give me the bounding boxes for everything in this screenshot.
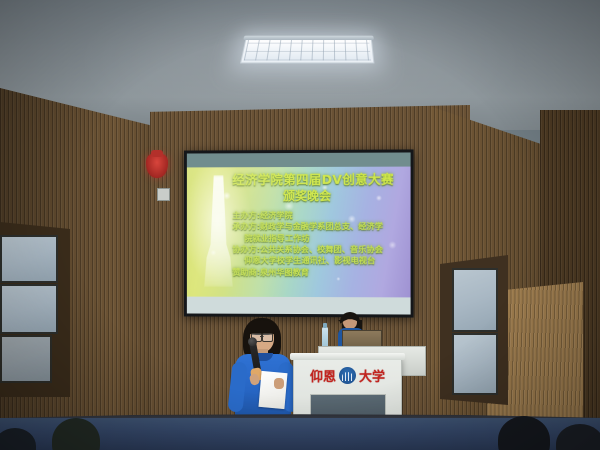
slide-line-coorganizer: 协办方:公共关系协会、校舞团、音乐协会: [232, 244, 404, 255]
red-wall-alarm-icon: [146, 154, 168, 178]
slide-line-sponsor: 赞助商:泉州华图教育: [232, 266, 404, 277]
slide-line-organizer: 主办方:经济学院: [232, 210, 404, 221]
script-paper: [258, 371, 287, 409]
speaker-hand-right: [274, 378, 284, 389]
slide-subtitle: 颁奖晚会: [232, 188, 404, 203]
window-pane-left-lower: [0, 335, 52, 383]
window-pane-right-lower: [452, 333, 498, 395]
wall-switch-plate: [157, 188, 170, 201]
slide-top-band: [187, 152, 411, 167]
window-pane-right-upper: [452, 268, 498, 332]
projection-screen-surface: 经济学院第四届DV创意大赛 颁奖晚会 主办方:经济学院 承办方:财政学与金融学系…: [187, 152, 411, 314]
slide-title: 经济学院第四届DV创意大赛: [232, 173, 404, 188]
light-diffuser-grid: [244, 40, 371, 60]
slide-bottom-band: [187, 297, 411, 315]
slide-text-block: 经济学院第四届DV创意大赛 颁奖晚会 主办方:经济学院 承办方:财政学与金融学系…: [232, 173, 404, 296]
slide-line-host-cont: 院就业指导工作坊: [232, 233, 404, 244]
water-bottle: [322, 327, 328, 348]
slide-line-host: 承办方:财政学与金融学系团总支、经济学: [232, 221, 404, 232]
recessed-fluorescent-light-icon: [240, 37, 374, 63]
podium-top-surface: [290, 353, 405, 360]
glasses-lens-right: [262, 333, 273, 342]
auditorium-photo: 经济学院第四届DV创意大赛 颁奖晚会 主办方:经济学院 承办方:财政学与金融学系…: [0, 0, 600, 450]
podium-word-right: 大学: [359, 366, 385, 385]
presentation-slide: 经济学院第四届DV创意大赛 颁奖晚会 主办方:经济学院 承办方:财政学与金融学系…: [187, 167, 411, 298]
podium-nameplate: 仰恩 大学: [294, 364, 401, 386]
podium-word-left: 仰恩: [310, 366, 336, 385]
university-crest-logo-icon: [339, 367, 356, 384]
slide-line-coorganizer-cont: 仰恩大学校学生通讯社、影视电视台: [232, 255, 404, 266]
projection-screen: 经济学院第四届DV创意大赛 颁奖晚会 主办方:经济学院 承办方:财政学与金融学系…: [184, 149, 414, 317]
window-pane-left-middle: [0, 284, 58, 334]
window-pane-left-upper: [0, 235, 58, 283]
slide-body: 主办方:经济学院 承办方:财政学与金融学系团总支、经济学 院就业指导工作坊 协办…: [232, 210, 404, 278]
